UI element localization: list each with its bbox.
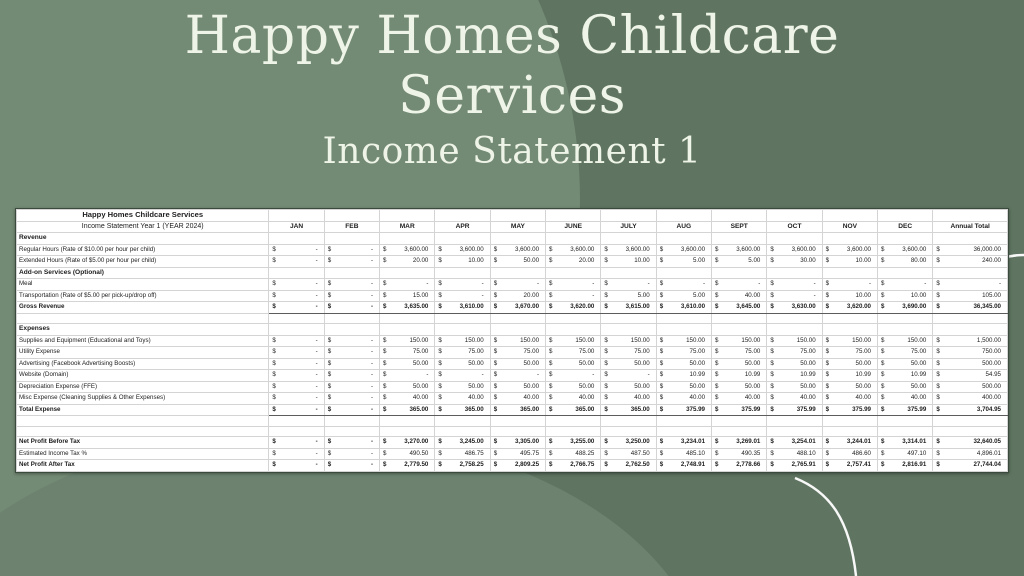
cell-meal-june[interactable]: $- xyxy=(546,279,601,291)
cell-depreciation-mar[interactable]: $50.00 xyxy=(380,381,435,393)
table-row[interactable]: Transportation (Rate of $5.00 per pick-u… xyxy=(17,290,1008,302)
cell-misc-jan[interactable]: $- xyxy=(269,393,324,405)
banner-blank-cell[interactable] xyxy=(656,210,711,222)
currency-symbol: $ xyxy=(272,460,275,471)
cell-total-expense-annual-total[interactable]: $3,704.95 xyxy=(933,404,1008,416)
column-header-feb[interactable]: FEB xyxy=(324,221,379,233)
column-header-annual-total[interactable]: Annual Total xyxy=(933,221,1008,233)
cell-website-sept[interactable]: $10.99 xyxy=(712,370,767,382)
cell-meal-nov[interactable]: $- xyxy=(822,279,877,291)
cell-income-tax-aug[interactable]: $485.10 xyxy=(656,448,711,460)
cell-misc-nov[interactable]: $40.00 xyxy=(822,393,877,405)
row-label-depreciation[interactable]: Depreciation Expense (FFE) xyxy=(17,381,269,393)
cell-gross-revenue-apr[interactable]: $3,610.00 xyxy=(435,302,490,314)
cell-gross-revenue-feb[interactable]: $- xyxy=(324,302,379,314)
cell-depreciation-annual-total[interactable]: $500.00 xyxy=(933,381,1008,393)
cell-website-july[interactable]: $- xyxy=(601,370,656,382)
cell-supplies-apr[interactable]: $150.00 xyxy=(435,335,490,347)
table-row[interactable]: Advertising (Facebook Advertising Boosts… xyxy=(17,358,1008,370)
cell-extended-hours-jan[interactable]: $- xyxy=(269,256,324,268)
currency-symbol: $ xyxy=(494,359,497,370)
spacer-cell xyxy=(878,416,933,427)
cell-advertising-apr[interactable]: $50.00 xyxy=(435,358,490,370)
cell-net-after-tax-dec[interactable]: $2,816.91 xyxy=(878,460,933,472)
cell-net-after-tax-july[interactable]: $2,762.50 xyxy=(601,460,656,472)
cell-supplies-jan[interactable]: $- xyxy=(269,335,324,347)
cell-utility-aug[interactable]: $75.00 xyxy=(656,347,711,359)
cell-supplies-oct[interactable]: $150.00 xyxy=(767,335,822,347)
column-header-may[interactable]: MAY xyxy=(490,221,545,233)
banner-blank-cell[interactable] xyxy=(601,210,656,222)
cell-depreciation-july[interactable]: $50.00 xyxy=(601,381,656,393)
cell-advertising-sept[interactable]: $50.00 xyxy=(712,358,767,370)
cell-website-nov[interactable]: $10.99 xyxy=(822,370,877,382)
cell-misc-oct[interactable]: $40.00 xyxy=(767,393,822,405)
cell-gross-revenue-jan[interactable]: $- xyxy=(269,302,324,314)
cell-extended-hours-mar[interactable]: $20.00 xyxy=(380,256,435,268)
cell-transportation-july[interactable]: $5.00 xyxy=(601,290,656,302)
cell-transportation-sept[interactable]: $40.00 xyxy=(712,290,767,302)
row-label-misc[interactable]: Misc Expense (Cleaning Supplies & Other … xyxy=(17,393,269,405)
cell-website-apr[interactable]: $- xyxy=(435,370,490,382)
column-header-sept[interactable]: SEPT xyxy=(712,221,767,233)
cell-meal-oct[interactable]: $- xyxy=(767,279,822,291)
cell-total-expense-dec[interactable]: $375.99 xyxy=(878,404,933,416)
cell-net-before-tax-oct[interactable]: $3,254.01 xyxy=(767,437,822,449)
cell-meal-jan[interactable]: $- xyxy=(269,279,324,291)
cell-value: - xyxy=(327,347,377,358)
spacer-cell xyxy=(656,416,711,427)
cell-website-mar[interactable]: $- xyxy=(380,370,435,382)
cell-depreciation-feb[interactable]: $- xyxy=(324,381,379,393)
cell-regular-hours-may[interactable]: $3,600.00 xyxy=(490,244,545,256)
cell-total-expense-may[interactable]: $365.00 xyxy=(490,404,545,416)
section-header-expenses-fill xyxy=(601,324,656,336)
cell-net-after-tax-jan[interactable]: $- xyxy=(269,460,324,472)
currency-symbol: $ xyxy=(826,302,829,313)
cell-utility-mar[interactable]: $75.00 xyxy=(380,347,435,359)
cell-advertising-feb[interactable]: $- xyxy=(324,358,379,370)
cell-value: 365.00 xyxy=(437,405,487,416)
cell-gross-revenue-may[interactable]: $3,670.00 xyxy=(490,302,545,314)
table-row[interactable]: Utility Expense$-$-$75.00$75.00$75.00$75… xyxy=(17,347,1008,359)
cell-misc-apr[interactable]: $40.00 xyxy=(435,393,490,405)
column-header-apr[interactable]: APR xyxy=(435,221,490,233)
cell-utility-nov[interactable]: $75.00 xyxy=(822,347,877,359)
cell-value: 50.00 xyxy=(603,359,653,370)
cell-value: 150.00 xyxy=(437,336,487,347)
cell-value: 3,305.00 xyxy=(493,437,543,448)
table-row[interactable]: Net Profit After Tax$-$-$2,779.50$2,758.… xyxy=(17,460,1008,472)
cell-supplies-nov[interactable]: $150.00 xyxy=(822,335,877,347)
cell-income-tax-nov[interactable]: $486.60 xyxy=(822,448,877,460)
cell-net-before-tax-dec[interactable]: $3,314.01 xyxy=(878,437,933,449)
cell-regular-hours-nov[interactable]: $3,600.00 xyxy=(822,244,877,256)
cell-gross-revenue-june[interactable]: $3,620.00 xyxy=(546,302,601,314)
cell-supplies-sept[interactable]: $150.00 xyxy=(712,335,767,347)
row-label-advertising[interactable]: Advertising (Facebook Advertising Boosts… xyxy=(17,358,269,370)
currency-symbol: $ xyxy=(328,405,331,416)
cell-net-after-tax-apr[interactable]: $2,758.25 xyxy=(435,460,490,472)
cell-net-after-tax-nov[interactable]: $2,757.41 xyxy=(822,460,877,472)
table-row[interactable]: Meal$-$-$-$-$-$-$-$-$-$-$-$-$- xyxy=(17,279,1008,291)
cell-regular-hours-feb[interactable]: $- xyxy=(324,244,379,256)
cell-utility-dec[interactable]: $75.00 xyxy=(878,347,933,359)
row-label-income-tax[interactable]: Estimated Income Tax % xyxy=(17,448,269,460)
banner-blank-cell[interactable] xyxy=(269,210,324,222)
cell-supplies-annual-total[interactable]: $1,500.00 xyxy=(933,335,1008,347)
cell-extended-hours-nov[interactable]: $10.00 xyxy=(822,256,877,268)
cell-total-expense-oct[interactable]: $375.99 xyxy=(767,404,822,416)
cell-regular-hours-dec[interactable]: $3,600.00 xyxy=(878,244,933,256)
cell-income-tax-sept[interactable]: $490.35 xyxy=(712,448,767,460)
cell-regular-hours-sept[interactable]: $3,600.00 xyxy=(712,244,767,256)
cell-value: 150.00 xyxy=(825,336,875,347)
banner-blank-cell[interactable] xyxy=(878,210,933,222)
row-label-net-before-tax[interactable]: Net Profit Before Tax xyxy=(17,437,269,449)
cell-value: 50.00 xyxy=(825,382,875,393)
cell-advertising-dec[interactable]: $50.00 xyxy=(878,358,933,370)
cell-utility-annual-total[interactable]: $750.00 xyxy=(933,347,1008,359)
cell-net-after-tax-aug[interactable]: $2,748.91 xyxy=(656,460,711,472)
cell-depreciation-may[interactable]: $50.00 xyxy=(490,381,545,393)
cell-meal-july[interactable]: $- xyxy=(601,279,656,291)
table-row[interactable]: Extended Hours (Rate of $5.00 per hour p… xyxy=(17,256,1008,268)
section-header-addon-services-fill xyxy=(933,267,1008,279)
cell-extended-hours-aug[interactable]: $5.00 xyxy=(656,256,711,268)
cell-advertising-mar[interactable]: $50.00 xyxy=(380,358,435,370)
currency-symbol: $ xyxy=(438,405,441,416)
cell-income-tax-june[interactable]: $488.25 xyxy=(546,448,601,460)
cell-net-before-tax-mar[interactable]: $3,270.00 xyxy=(380,437,435,449)
banner-blank-cell[interactable] xyxy=(380,210,435,222)
cell-misc-june[interactable]: $40.00 xyxy=(546,393,601,405)
cell-advertising-july[interactable]: $50.00 xyxy=(601,358,656,370)
cell-extended-hours-annual-total[interactable]: $240.00 xyxy=(933,256,1008,268)
currency-symbol: $ xyxy=(936,405,939,416)
cell-total-expense-apr[interactable]: $365.00 xyxy=(435,404,490,416)
cell-misc-aug[interactable]: $40.00 xyxy=(656,393,711,405)
cell-transportation-mar[interactable]: $15.00 xyxy=(380,290,435,302)
row-label-transportation[interactable]: Transportation (Rate of $5.00 per pick-u… xyxy=(17,290,269,302)
cell-income-tax-annual-total[interactable]: $4,896.01 xyxy=(933,448,1008,460)
currency-symbol: $ xyxy=(272,405,275,416)
table-row[interactable]: Regular Hours (Rate of $10.00 per hour p… xyxy=(17,244,1008,256)
cell-total-expense-feb[interactable]: $- xyxy=(324,404,379,416)
cell-meal-feb[interactable]: $- xyxy=(324,279,379,291)
cell-income-tax-feb[interactable]: $- xyxy=(324,448,379,460)
cell-transportation-nov[interactable]: $10.00 xyxy=(822,290,877,302)
column-header-dec[interactable]: DEC xyxy=(878,221,933,233)
currency-symbol: $ xyxy=(770,460,773,471)
cell-depreciation-apr[interactable]: $50.00 xyxy=(435,381,490,393)
cell-advertising-aug[interactable]: $50.00 xyxy=(656,358,711,370)
currency-symbol: $ xyxy=(881,256,884,267)
banner-blank-cell[interactable] xyxy=(822,210,877,222)
currency-symbol: $ xyxy=(328,359,331,370)
cell-income-tax-may[interactable]: $495.75 xyxy=(490,448,545,460)
cell-gross-revenue-annual-total[interactable]: $36,345.00 xyxy=(933,302,1008,314)
cell-extended-hours-feb[interactable]: $- xyxy=(324,256,379,268)
cell-regular-hours-jan[interactable]: $- xyxy=(269,244,324,256)
currency-symbol: $ xyxy=(604,291,607,302)
cell-value: 500.00 xyxy=(935,382,1005,393)
cell-depreciation-dec[interactable]: $50.00 xyxy=(878,381,933,393)
table-row[interactable]: Misc Expense (Cleaning Supplies & Other … xyxy=(17,393,1008,405)
cell-gross-revenue-july[interactable]: $3,615.00 xyxy=(601,302,656,314)
cell-total-expense-june[interactable]: $365.00 xyxy=(546,404,601,416)
cell-transportation-june[interactable]: $- xyxy=(546,290,601,302)
income-statement-spreadsheet[interactable]: Happy Homes Childcare ServicesIncome Sta… xyxy=(15,208,1009,473)
cell-meal-annual-total[interactable]: $- xyxy=(933,279,1008,291)
cell-net-after-tax-may[interactable]: $2,809.25 xyxy=(490,460,545,472)
cell-supplies-may[interactable]: $150.00 xyxy=(490,335,545,347)
cell-depreciation-june[interactable]: $50.00 xyxy=(546,381,601,393)
row-label-website[interactable]: Website (Domain) xyxy=(17,370,269,382)
banner-blank-cell[interactable] xyxy=(435,210,490,222)
cell-net-after-tax-feb[interactable]: $- xyxy=(324,460,379,472)
slide-canvas: Happy Homes Childcare Services Income St… xyxy=(0,0,1024,576)
cell-advertising-annual-total[interactable]: $500.00 xyxy=(933,358,1008,370)
cell-gross-revenue-oct[interactable]: $3,630.00 xyxy=(767,302,822,314)
cell-value: - xyxy=(271,347,321,358)
cell-net-before-tax-annual-total[interactable]: $32,640.05 xyxy=(933,437,1008,449)
currency-symbol: $ xyxy=(328,437,331,448)
cell-net-before-tax-jan[interactable]: $- xyxy=(269,437,324,449)
cell-website-feb[interactable]: $- xyxy=(324,370,379,382)
cell-supplies-mar[interactable]: $150.00 xyxy=(380,335,435,347)
column-header-jan[interactable]: JAN xyxy=(269,221,324,233)
banner-blank-cell[interactable] xyxy=(490,210,545,222)
cell-income-tax-apr[interactable]: $486.75 xyxy=(435,448,490,460)
cell-utility-sept[interactable]: $75.00 xyxy=(712,347,767,359)
cell-income-tax-oct[interactable]: $488.10 xyxy=(767,448,822,460)
table-row[interactable]: Total Expense$-$-$365.00$365.00$365.00$3… xyxy=(17,404,1008,416)
cell-value: 3,690.00 xyxy=(880,302,930,313)
table-row[interactable]: Gross Revenue$-$-$3,635.00$3,610.00$3,67… xyxy=(17,302,1008,314)
cell-utility-feb[interactable]: $- xyxy=(324,347,379,359)
spacer-cell xyxy=(17,426,269,437)
row-label-meal[interactable]: Meal xyxy=(17,279,269,291)
cell-total-expense-sept[interactable]: $375.99 xyxy=(712,404,767,416)
cell-depreciation-sept[interactable]: $50.00 xyxy=(712,381,767,393)
cell-regular-hours-apr[interactable]: $3,600.00 xyxy=(435,244,490,256)
cell-website-annual-total[interactable]: $54.95 xyxy=(933,370,1008,382)
cell-net-after-tax-annual-total[interactable]: $27,744.04 xyxy=(933,460,1008,472)
row-label-supplies[interactable]: Supplies and Equipment (Educational and … xyxy=(17,335,269,347)
row-label-extended-hours[interactable]: Extended Hours (Rate of $5.00 per hour p… xyxy=(17,256,269,268)
cell-transportation-feb[interactable]: $- xyxy=(324,290,379,302)
cell-website-aug[interactable]: $10.99 xyxy=(656,370,711,382)
currency-symbol: $ xyxy=(770,449,773,460)
cell-regular-hours-annual-total[interactable]: $36,000.00 xyxy=(933,244,1008,256)
banner-blank-cell[interactable] xyxy=(933,210,1008,222)
cell-income-tax-dec[interactable]: $497.10 xyxy=(878,448,933,460)
currency-symbol: $ xyxy=(770,393,773,404)
cell-misc-annual-total[interactable]: $400.00 xyxy=(933,393,1008,405)
cell-gross-revenue-nov[interactable]: $3,620.00 xyxy=(822,302,877,314)
cell-value: - xyxy=(327,256,377,267)
cell-meal-dec[interactable]: $- xyxy=(878,279,933,291)
row-label-gross-revenue[interactable]: Gross Revenue xyxy=(17,302,269,314)
cell-misc-july[interactable]: $40.00 xyxy=(601,393,656,405)
cell-transportation-aug[interactable]: $5.00 xyxy=(656,290,711,302)
cell-depreciation-oct[interactable]: $50.00 xyxy=(767,381,822,393)
cell-misc-may[interactable]: $40.00 xyxy=(490,393,545,405)
cell-advertising-nov[interactable]: $50.00 xyxy=(822,358,877,370)
cell-gross-revenue-mar[interactable]: $3,635.00 xyxy=(380,302,435,314)
cell-value: 240.00 xyxy=(935,256,1005,267)
cell-misc-mar[interactable]: $40.00 xyxy=(380,393,435,405)
cell-value: 3,600.00 xyxy=(714,245,764,256)
cell-depreciation-aug[interactable]: $50.00 xyxy=(656,381,711,393)
cell-meal-may[interactable]: $- xyxy=(490,279,545,291)
cell-value: - xyxy=(327,382,377,393)
table-row[interactable]: Estimated Income Tax %$-$-$490.50$486.75… xyxy=(17,448,1008,460)
cell-transportation-oct[interactable]: $- xyxy=(767,290,822,302)
cell-value: 486.60 xyxy=(825,449,875,460)
row-label-total-expense[interactable]: Total Expense xyxy=(17,404,269,416)
cell-net-before-tax-feb[interactable]: $- xyxy=(324,437,379,449)
cell-regular-hours-oct[interactable]: $3,600.00 xyxy=(767,244,822,256)
banner-blank-cell[interactable] xyxy=(546,210,601,222)
column-header-mar[interactable]: MAR xyxy=(380,221,435,233)
cell-website-dec[interactable]: $10.99 xyxy=(878,370,933,382)
column-header-oct[interactable]: OCT xyxy=(767,221,822,233)
cell-transportation-apr[interactable]: $- xyxy=(435,290,490,302)
cell-meal-apr[interactable]: $- xyxy=(435,279,490,291)
table-row[interactable]: Depreciation Expense (FFE)$-$-$50.00$50.… xyxy=(17,381,1008,393)
cell-website-may[interactable]: $- xyxy=(490,370,545,382)
cell-extended-hours-july[interactable]: $10.00 xyxy=(601,256,656,268)
cell-net-before-tax-july[interactable]: $3,250.00 xyxy=(601,437,656,449)
cell-misc-sept[interactable]: $40.00 xyxy=(712,393,767,405)
cell-supplies-aug[interactable]: $150.00 xyxy=(656,335,711,347)
cell-total-expense-aug[interactable]: $375.99 xyxy=(656,404,711,416)
table-row[interactable]: Website (Domain)$-$-$-$-$-$-$-$10.99$10.… xyxy=(17,370,1008,382)
cell-total-expense-jan[interactable]: $- xyxy=(269,404,324,416)
cell-utility-july[interactable]: $75.00 xyxy=(601,347,656,359)
currency-symbol: $ xyxy=(604,302,607,313)
cell-total-expense-mar[interactable]: $365.00 xyxy=(380,404,435,416)
cell-net-after-tax-mar[interactable]: $2,779.50 xyxy=(380,460,435,472)
cell-depreciation-jan[interactable]: $- xyxy=(269,381,324,393)
cell-transportation-dec[interactable]: $10.00 xyxy=(878,290,933,302)
row-label-net-after-tax[interactable]: Net Profit After Tax xyxy=(17,460,269,472)
cell-net-after-tax-oct[interactable]: $2,765.91 xyxy=(767,460,822,472)
row-label-utility[interactable]: Utility Expense xyxy=(17,347,269,359)
cell-utility-may[interactable]: $75.00 xyxy=(490,347,545,359)
cell-extended-hours-june[interactable]: $20.00 xyxy=(546,256,601,268)
cell-extended-hours-may[interactable]: $50.00 xyxy=(490,256,545,268)
cell-supplies-june[interactable]: $150.00 xyxy=(546,335,601,347)
cell-net-before-tax-aug[interactable]: $3,234.01 xyxy=(656,437,711,449)
section-header-revenue-fill xyxy=(435,233,490,245)
cell-income-tax-july[interactable]: $487.50 xyxy=(601,448,656,460)
cell-misc-feb[interactable]: $- xyxy=(324,393,379,405)
cell-meal-mar[interactable]: $- xyxy=(380,279,435,291)
section-header-addon-services-fill xyxy=(324,267,379,279)
cell-depreciation-nov[interactable]: $50.00 xyxy=(822,381,877,393)
cell-net-after-tax-june[interactable]: $2,766.75 xyxy=(546,460,601,472)
currency-symbol: $ xyxy=(715,359,718,370)
cell-value: 3,645.00 xyxy=(714,302,764,313)
spacer-cell xyxy=(380,313,435,324)
cell-regular-hours-mar[interactable]: $3,600.00 xyxy=(380,244,435,256)
table-row[interactable]: Net Profit Before Tax$-$-$3,270.00$3,245… xyxy=(17,437,1008,449)
cell-net-before-tax-june[interactable]: $3,255.00 xyxy=(546,437,601,449)
column-header-july[interactable]: JULY xyxy=(601,221,656,233)
cell-regular-hours-aug[interactable]: $3,600.00 xyxy=(656,244,711,256)
cell-value: 750.00 xyxy=(935,347,1005,358)
cell-utility-oct[interactable]: $75.00 xyxy=(767,347,822,359)
banner-blank-cell[interactable] xyxy=(767,210,822,222)
cell-meal-sept[interactable]: $- xyxy=(712,279,767,291)
column-header-june[interactable]: JUNE xyxy=(546,221,601,233)
row-label-regular-hours[interactable]: Regular Hours (Rate of $10.00 per hour p… xyxy=(17,244,269,256)
cell-gross-revenue-aug[interactable]: $3,610.00 xyxy=(656,302,711,314)
cell-advertising-jan[interactable]: $- xyxy=(269,358,324,370)
cell-value: - xyxy=(327,393,377,404)
currency-symbol: $ xyxy=(494,437,497,448)
cell-value: 150.00 xyxy=(659,336,709,347)
cell-value: 488.10 xyxy=(769,449,819,460)
column-header-aug[interactable]: AUG xyxy=(656,221,711,233)
cell-extended-hours-dec[interactable]: $80.00 xyxy=(878,256,933,268)
cell-extended-hours-oct[interactable]: $30.00 xyxy=(767,256,822,268)
cell-website-june[interactable]: $- xyxy=(546,370,601,382)
cell-total-expense-july[interactable]: $365.00 xyxy=(601,404,656,416)
cell-misc-dec[interactable]: $40.00 xyxy=(878,393,933,405)
cell-net-before-tax-may[interactable]: $3,305.00 xyxy=(490,437,545,449)
cell-transportation-annual-total[interactable]: $105.00 xyxy=(933,290,1008,302)
cell-income-tax-jan[interactable]: $- xyxy=(269,448,324,460)
cell-supplies-dec[interactable]: $150.00 xyxy=(878,335,933,347)
cell-net-after-tax-sept[interactable]: $2,778.66 xyxy=(712,460,767,472)
cell-net-before-tax-nov[interactable]: $3,244.01 xyxy=(822,437,877,449)
cell-income-tax-mar[interactable]: $490.50 xyxy=(380,448,435,460)
cell-utility-apr[interactable]: $75.00 xyxy=(435,347,490,359)
cell-transportation-may[interactable]: $20.00 xyxy=(490,290,545,302)
cell-advertising-oct[interactable]: $50.00 xyxy=(767,358,822,370)
cell-extended-hours-apr[interactable]: $10.00 xyxy=(435,256,490,268)
cell-regular-hours-july[interactable]: $3,600.00 xyxy=(601,244,656,256)
banner-blank-cell[interactable] xyxy=(324,210,379,222)
cell-regular-hours-june[interactable]: $3,600.00 xyxy=(546,244,601,256)
cell-supplies-feb[interactable]: $- xyxy=(324,335,379,347)
cell-net-before-tax-sept[interactable]: $3,269.01 xyxy=(712,437,767,449)
cell-total-expense-nov[interactable]: $375.99 xyxy=(822,404,877,416)
cell-extended-hours-sept[interactable]: $5.00 xyxy=(712,256,767,268)
cell-meal-aug[interactable]: $- xyxy=(656,279,711,291)
cell-utility-june[interactable]: $75.00 xyxy=(546,347,601,359)
cell-value: - xyxy=(548,279,598,290)
cell-gross-revenue-dec[interactable]: $3,690.00 xyxy=(878,302,933,314)
cell-utility-jan[interactable]: $- xyxy=(269,347,324,359)
banner-blank-cell[interactable] xyxy=(712,210,767,222)
cell-gross-revenue-sept[interactable]: $3,645.00 xyxy=(712,302,767,314)
table-row[interactable]: Supplies and Equipment (Educational and … xyxy=(17,335,1008,347)
cell-transportation-jan[interactable]: $- xyxy=(269,290,324,302)
cell-website-jan[interactable]: $- xyxy=(269,370,324,382)
currency-symbol: $ xyxy=(383,370,386,381)
cell-advertising-june[interactable]: $50.00 xyxy=(546,358,601,370)
cell-net-before-tax-apr[interactable]: $3,245.00 xyxy=(435,437,490,449)
cell-supplies-july[interactable]: $150.00 xyxy=(601,335,656,347)
column-header-nov[interactable]: NOV xyxy=(822,221,877,233)
cell-advertising-may[interactable]: $50.00 xyxy=(490,358,545,370)
cell-website-oct[interactable]: $10.99 xyxy=(767,370,822,382)
